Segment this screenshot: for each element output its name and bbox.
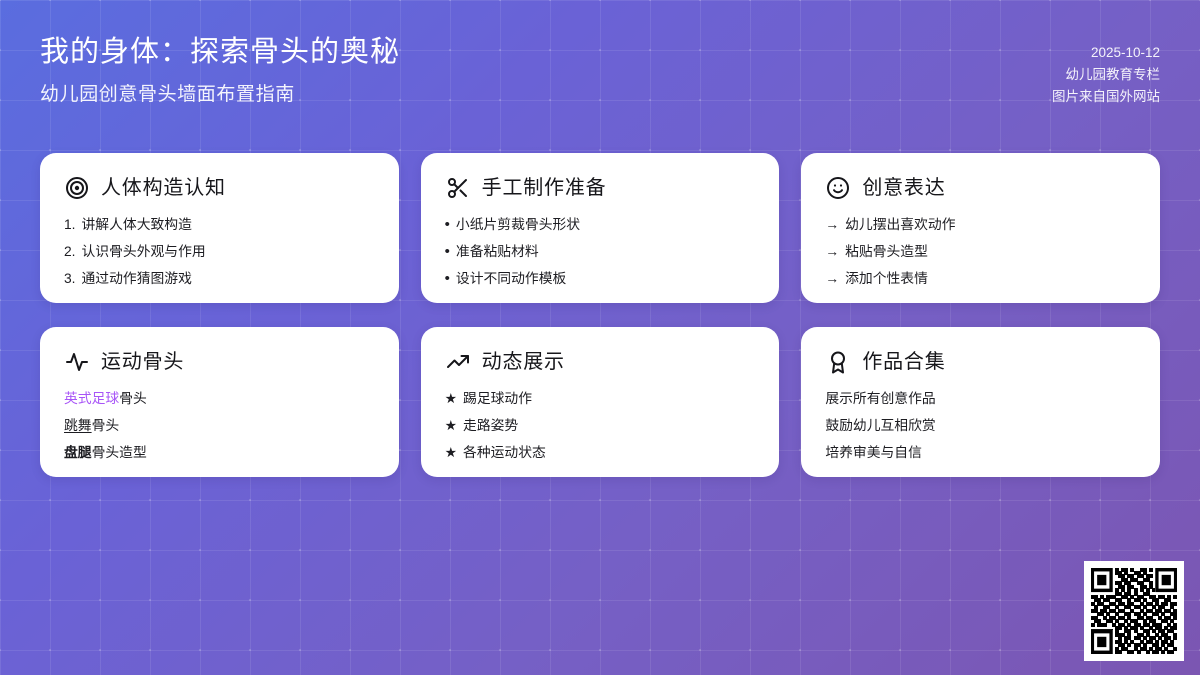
list-item: 跳舞骨头: [64, 416, 375, 436]
card-title: 动态展示: [482, 352, 565, 372]
list-item: 展示所有创意作品: [825, 389, 1136, 409]
card-item-list: 1.讲解人体大致构造2.认识骨头外观与作用3.通过动作猜图游戏: [64, 215, 375, 289]
meta-date: 2025-10-12: [1091, 42, 1160, 64]
smiley-face-icon: [825, 175, 851, 201]
card-header: 作品合集: [825, 349, 1136, 375]
rich-text-segment: 英式足球: [64, 391, 119, 406]
slide-root: 我的身体：探索骨头的奥秘 幼儿园创意骨头墙面布置指南 2025-10-12 幼儿…: [0, 0, 1200, 675]
list-item: 1.讲解人体大致构造: [64, 215, 375, 235]
list-item-text: 添加个性表情: [845, 269, 928, 289]
list-item-marker: •: [445, 217, 450, 232]
card: 运动骨头英式足球骨头跳舞骨头盘腿骨头造型: [40, 327, 399, 477]
list-item: ★走路姿势: [445, 416, 756, 436]
rich-text-segment: 骨头: [119, 391, 147, 406]
list-item: ★踢足球动作: [445, 389, 756, 409]
list-item: 3.通过动作猜图游戏: [64, 269, 375, 289]
list-item-text: 讲解人体大致构造: [82, 215, 192, 235]
card-title: 人体构造认知: [101, 178, 226, 198]
list-item-text: 认识骨头外观与作用: [82, 242, 206, 262]
list-item: •小纸片剪裁骨头形状: [445, 215, 756, 235]
card-header: 人体构造认知: [64, 175, 375, 201]
rich-text-segment: 骨头造型: [92, 445, 147, 460]
list-item-marker: •: [445, 271, 450, 286]
list-item-text: 粘贴骨头造型: [845, 242, 928, 262]
list-item-marker: →: [825, 215, 839, 235]
list-item: →粘贴骨头造型: [825, 242, 1136, 262]
list-item-text: 通过动作猜图游戏: [82, 269, 192, 289]
list-item-text: 踢足球动作: [463, 389, 532, 409]
list-item-text: 各种运动状态: [463, 443, 546, 463]
card: 动态展示★踢足球动作★走路姿势★各种运动状态: [421, 327, 780, 477]
list-item-text: 幼儿摆出喜欢动作: [845, 215, 955, 235]
qr-code-block[interactable]: [1084, 561, 1184, 661]
card-title: 作品合集: [862, 352, 945, 372]
qr-code-image: [1091, 568, 1177, 654]
rich-text-segment: 盘腿: [64, 445, 92, 460]
card-item-list: →幼儿摆出喜欢动作→粘贴骨头造型→添加个性表情: [825, 215, 1136, 289]
meta-source: 图片来自国外网站: [1052, 86, 1160, 108]
list-item-marker: 1.: [64, 215, 76, 235]
award-medal-icon: [825, 349, 851, 375]
list-item: •准备粘贴材料: [445, 242, 756, 262]
list-item-marker: 3.: [64, 269, 76, 289]
title-block: 我的身体：探索骨头的奥秘 幼儿园创意骨头墙面布置指南: [40, 34, 400, 106]
page-subtitle: 幼儿园创意骨头墙面布置指南: [40, 79, 400, 106]
bullseye-target-icon: [64, 175, 90, 201]
list-item: 英式足球骨头: [64, 389, 375, 409]
rich-text-segment: 跳舞: [64, 418, 92, 433]
list-item-text: 准备粘贴材料: [456, 242, 539, 262]
card: 作品合集展示所有创意作品鼓励幼儿互相欣赏培养审美与自信: [801, 327, 1160, 477]
card-title: 创意表达: [862, 178, 945, 198]
list-item-text: 培养审美与自信: [825, 443, 922, 463]
list-item-marker: 2.: [64, 242, 76, 262]
card-header: 运动骨头: [64, 349, 375, 375]
list-item-marker: →: [825, 242, 839, 262]
card-header: 手工制作准备: [445, 175, 756, 201]
list-item-text: 设计不同动作模板: [456, 269, 566, 289]
list-item-text: 盘腿骨头造型: [64, 443, 147, 463]
list-item-text: 英式足球骨头: [64, 389, 147, 409]
list-item-text: 展示所有创意作品: [825, 389, 935, 409]
card-item-list: 展示所有创意作品鼓励幼儿互相欣赏培养审美与自信: [825, 389, 1136, 463]
card-header: 动态展示: [445, 349, 756, 375]
card-item-list: 英式足球骨头跳舞骨头盘腿骨头造型: [64, 389, 375, 463]
header-meta: 2025-10-12 幼儿园教育专栏 图片来自国外网站: [1052, 34, 1160, 108]
list-item-text: 跳舞骨头: [64, 416, 119, 436]
rich-text-segment: 骨头: [92, 418, 120, 433]
list-item-text: 走路姿势: [463, 416, 518, 436]
card: 创意表达→幼儿摆出喜欢动作→粘贴骨头造型→添加个性表情: [801, 153, 1160, 303]
card-grid: 人体构造认知1.讲解人体大致构造2.认识骨头外观与作用3.通过动作猜图游戏手工制…: [40, 153, 1160, 477]
list-item: →添加个性表情: [825, 269, 1136, 289]
card: 人体构造认知1.讲解人体大致构造2.认识骨头外观与作用3.通过动作猜图游戏: [40, 153, 399, 303]
card-header: 创意表达: [825, 175, 1136, 201]
card-title: 运动骨头: [101, 352, 184, 372]
list-item: 培养审美与自信: [825, 443, 1136, 463]
list-item-marker: ★: [445, 416, 457, 436]
list-item: 鼓励幼儿互相欣赏: [825, 416, 1136, 436]
page-title: 我的身体：探索骨头的奥秘: [40, 34, 400, 70]
card-item-list: •小纸片剪裁骨头形状•准备粘贴材料•设计不同动作模板: [445, 215, 756, 289]
list-item-marker: ★: [445, 389, 457, 409]
list-item-marker: •: [445, 244, 450, 259]
list-item: ★各种运动状态: [445, 443, 756, 463]
scissors-icon: [445, 175, 471, 201]
trending-up-icon: [445, 349, 471, 375]
card-title: 手工制作准备: [482, 178, 607, 198]
card: 手工制作准备•小纸片剪裁骨头形状•准备粘贴材料•设计不同动作模板: [421, 153, 780, 303]
meta-column: 幼儿园教育专栏: [1066, 64, 1161, 86]
list-item: →幼儿摆出喜欢动作: [825, 215, 1136, 235]
card-item-list: ★踢足球动作★走路姿势★各种运动状态: [445, 389, 756, 463]
list-item-text: 小纸片剪裁骨头形状: [456, 215, 580, 235]
list-item-marker: →: [825, 269, 839, 289]
list-item-marker: ★: [445, 443, 457, 463]
list-item: 2.认识骨头外观与作用: [64, 242, 375, 262]
list-item: 盘腿骨头造型: [64, 443, 375, 463]
list-item-text: 鼓励幼儿互相欣赏: [825, 416, 935, 436]
list-item: •设计不同动作模板: [445, 269, 756, 289]
slide-header: 我的身体：探索骨头的奥秘 幼儿园创意骨头墙面布置指南 2025-10-12 幼儿…: [0, 0, 1200, 140]
activity-pulse-icon: [64, 349, 90, 375]
